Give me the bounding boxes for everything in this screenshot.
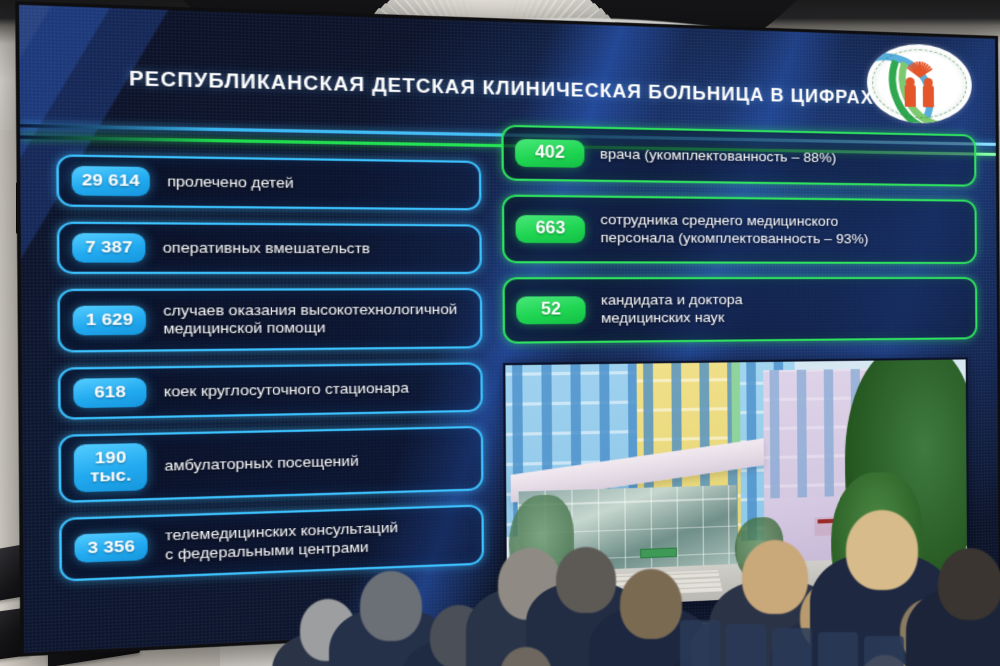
stat-row: 1 629случаев оказания высокотехнологично… <box>57 288 482 353</box>
stat-value-chip: 1 629 <box>73 306 146 336</box>
stat-value-chip: 3 356 <box>74 532 147 564</box>
stat-row: 3 356телемедицинских консультаций с феде… <box>59 504 484 581</box>
stat-value-chip: 402 <box>515 138 585 168</box>
stat-value-chip: 190 тыс. <box>74 443 147 492</box>
stat-row: 29 614пролечено детей <box>56 154 481 210</box>
stats-column-right: 402врача (укомплектованность – 88%)663со… <box>501 125 977 358</box>
stat-label: телемедицинских консультаций с федеральн… <box>147 510 481 572</box>
hospital-logo-icon <box>867 43 972 125</box>
led-presentation-screen[interactable]: РЕСПУБЛИКАНСКАЯ ДЕТСКАЯ КЛИНИЧЕСКАЯ БОЛЬ… <box>15 1 1000 656</box>
stat-value-chip: 618 <box>73 378 146 408</box>
stat-row: 52кандидата и доктора медицинских наук <box>502 277 977 344</box>
stat-row: 7 387оперативных вмешательств <box>57 222 482 274</box>
stat-label: оперативных вмешательств <box>145 232 479 265</box>
slide-title: РЕСПУБЛИКАНСКАЯ ДЕТСКАЯ КЛИНИЧЕСКАЯ БОЛЬ… <box>129 67 916 110</box>
stat-label: сотрудника среднего медицинского персона… <box>585 205 975 255</box>
stat-value-chip: 29 614 <box>72 166 150 196</box>
stat-label: кандидата и доктора медицинских наук <box>585 285 975 334</box>
auditorium-scene: РЕСПУБЛИКАНСКАЯ ДЕТСКАЯ КЛИНИЧЕСКАЯ БОЛЬ… <box>0 0 1000 666</box>
stat-value-chip: 663 <box>516 215 586 244</box>
stat-label: коек круглосуточного стационара <box>146 372 480 409</box>
stat-value-chip: 52 <box>516 296 586 325</box>
stat-label: врача (укомплектованность – 88%) <box>584 139 974 175</box>
stat-value-chip: 7 387 <box>72 233 145 262</box>
stat-label: амбулаторных посещений <box>147 443 481 483</box>
stat-row: 190 тыс.амбулаторных посещений <box>58 426 483 503</box>
stat-label: пролечено детей <box>150 166 480 201</box>
stats-column-left: 29 614пролечено детей7 387оперативных вм… <box>56 154 484 596</box>
hospital-building-photo <box>503 357 969 612</box>
slide-surface: РЕСПУБЛИКАНСКАЯ ДЕТСКАЯ КЛИНИЧЕСКАЯ БОЛЬ… <box>15 1 1000 656</box>
stat-row: 618коек круглосуточного стационара <box>58 362 483 420</box>
stat-label: случаев оказания высокотехнологичной мед… <box>146 294 480 346</box>
stat-row: 663сотрудника среднего медицинского перс… <box>502 195 977 264</box>
stat-row: 402врача (укомплектованность – 88%) <box>501 125 976 187</box>
photo-entrance-sign <box>640 548 677 559</box>
